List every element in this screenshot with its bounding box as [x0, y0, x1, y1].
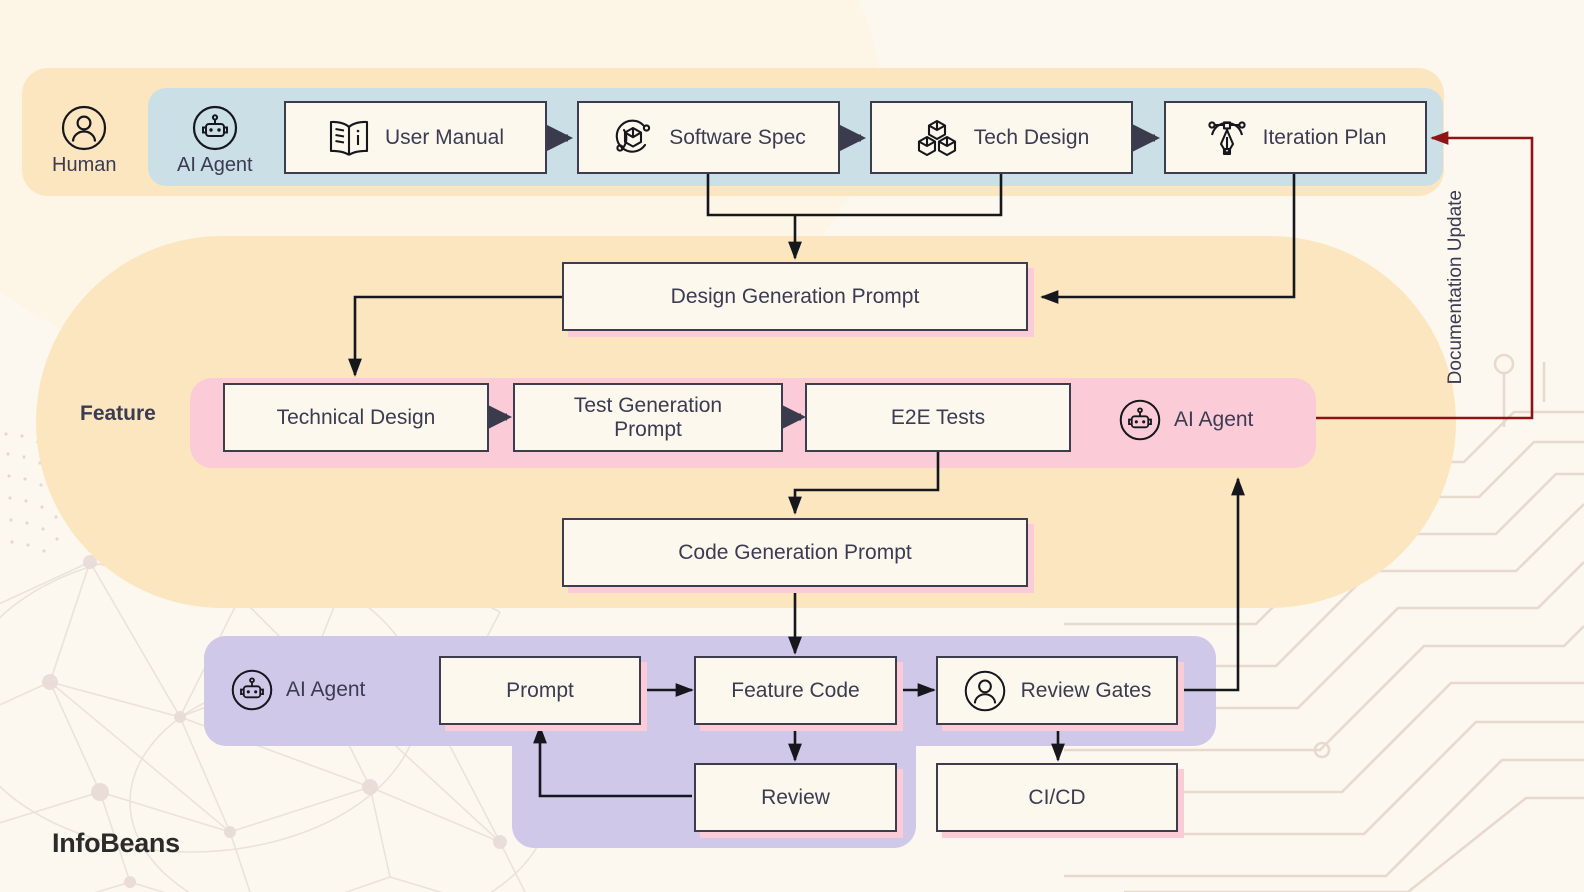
node-review[interactable]: Review	[694, 763, 897, 832]
node-technical-design-label: Technical Design	[277, 406, 436, 430]
node-code-generation-prompt[interactable]: Code Generation Prompt	[562, 518, 1028, 587]
human-label: Human	[52, 154, 116, 177]
atom-cube-icon	[611, 117, 655, 159]
node-iteration-plan[interactable]: Iteration Plan	[1164, 101, 1427, 174]
node-review-label: Review	[761, 786, 830, 810]
node-software-spec[interactable]: Software Spec	[577, 101, 840, 174]
node-prompt-label: Prompt	[506, 679, 574, 703]
edge-iteration-plan-to-design-prompt	[1042, 174, 1294, 297]
person-circle-icon	[60, 104, 108, 152]
stacked-cubes-icon	[914, 116, 960, 160]
node-cicd-label: CI/CD	[1028, 786, 1085, 810]
infobeans-logo: InfoBeans	[52, 828, 180, 859]
diagram-canvas: Human AI Agent User Manual	[0, 0, 1584, 892]
open-book-icon	[327, 118, 371, 158]
pen-nib-icon	[1205, 116, 1249, 160]
dev-ai-agent-label: AI Agent	[286, 678, 365, 702]
node-technical-design[interactable]: Technical Design	[223, 383, 489, 452]
node-e2e-tests-label: E2E Tests	[891, 406, 985, 430]
node-e2e-tests[interactable]: E2E Tests	[805, 383, 1071, 452]
planning-ai-agent-label: AI Agent	[177, 154, 253, 177]
node-design-generation-prompt[interactable]: Design Generation Prompt	[562, 262, 1028, 331]
edge-e2e-to-code-prompt	[795, 452, 938, 513]
planning-ai-agent-chip: AI Agent	[177, 104, 253, 177]
node-tech-design[interactable]: Tech Design	[870, 101, 1133, 174]
node-test-generation-prompt-label: Test Generation Prompt	[574, 394, 722, 441]
node-review-gates-label: Review Gates	[1021, 679, 1152, 703]
edge-review-to-prompt	[540, 727, 692, 796]
node-user-manual-label: User Manual	[385, 126, 504, 150]
edge-review-gates-to-feature-ai-agent	[1178, 479, 1238, 690]
robot-circle-icon	[191, 104, 239, 152]
edge-spec-techdesign-merge	[708, 174, 1001, 215]
node-iteration-plan-label: Iteration Plan	[1263, 126, 1387, 150]
edge-design-prompt-to-technical-design	[355, 297, 562, 375]
node-test-generation-prompt[interactable]: Test Generation Prompt	[513, 383, 783, 452]
node-code-generation-prompt-label: Code Generation Prompt	[678, 541, 911, 565]
human-chip: Human	[52, 104, 116, 177]
node-design-generation-prompt-label: Design Generation Prompt	[671, 285, 920, 309]
robot-circle-icon	[1118, 398, 1162, 442]
node-software-spec-label: Software Spec	[669, 126, 806, 150]
edge-documentation-update	[1316, 138, 1532, 418]
node-feature-code-label: Feature Code	[731, 679, 859, 703]
node-cicd[interactable]: CI/CD	[936, 763, 1178, 832]
feature-ai-agent-label: AI Agent	[1174, 408, 1253, 432]
feature-ai-agent-chip: AI Agent	[1118, 398, 1253, 442]
person-circle-icon	[963, 669, 1007, 713]
node-feature-code[interactable]: Feature Code	[694, 656, 897, 725]
node-user-manual[interactable]: User Manual	[284, 101, 547, 174]
node-prompt[interactable]: Prompt	[439, 656, 641, 725]
robot-circle-icon	[230, 668, 274, 712]
node-tech-design-label: Tech Design	[974, 126, 1090, 150]
node-review-gates[interactable]: Review Gates	[936, 656, 1178, 725]
feature-group-label: Feature	[80, 402, 156, 426]
dev-ai-agent-chip: AI Agent	[230, 668, 365, 712]
documentation-update-label: Documentation Update	[1444, 190, 1498, 384]
